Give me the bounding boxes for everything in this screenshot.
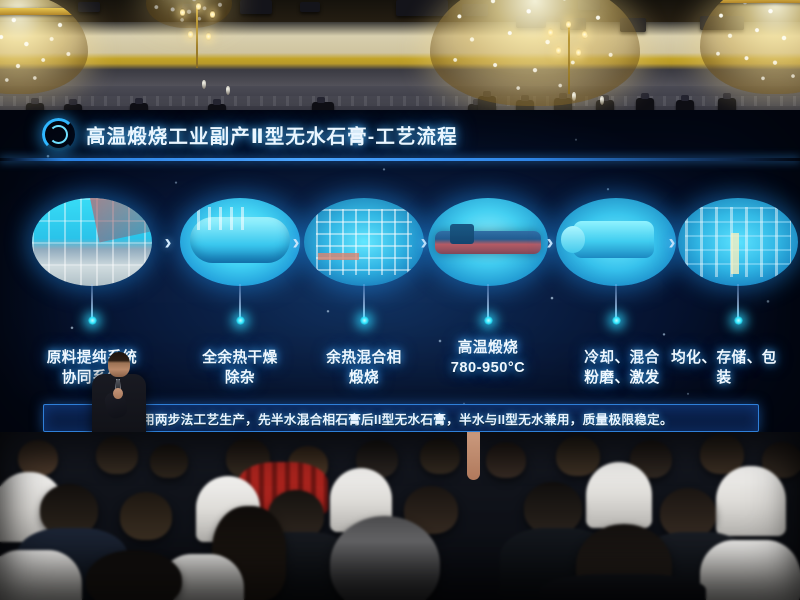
flow-stem-dot-3 <box>360 316 369 325</box>
flow-node-2 <box>180 198 300 302</box>
process-flow-row: › › › › <box>0 198 800 328</box>
title-divider <box>0 158 800 161</box>
chandelier-far-left-small <box>146 0 232 28</box>
flow-stem-dot-1 <box>88 316 97 325</box>
flow-stem-1 <box>91 284 93 318</box>
chandelier-crystal-2 <box>226 86 230 95</box>
flow-node-6 <box>678 198 798 302</box>
chandelier-main <box>430 0 640 106</box>
chandelier-right <box>700 0 800 94</box>
flow-stem-6 <box>737 284 739 318</box>
flow-arrow-2: › <box>286 232 306 254</box>
chandelier-arm-left <box>196 8 198 68</box>
step-label-6-line2: 装 <box>644 368 800 388</box>
flow-node-1 <box>32 198 152 302</box>
step-label-6-line1: 均化、存储、包 <box>644 348 800 368</box>
chandelier-candle-9 <box>556 46 561 55</box>
flow-stem-dot-5 <box>612 316 621 325</box>
chandelier-crystal-4 <box>600 96 604 105</box>
flow-image-5 <box>556 198 676 286</box>
chandelier-crystal-3 <box>572 92 576 101</box>
chandelier-arm-right <box>568 22 570 94</box>
flow-node-4 <box>428 198 548 302</box>
flow-image-6 <box>678 198 798 286</box>
chandelier-left <box>0 0 88 94</box>
step-label-6: 均化、存储、包 装 <box>644 348 800 388</box>
presenter-head <box>108 352 130 377</box>
flow-stem-3 <box>363 284 365 318</box>
flow-image-1 <box>32 198 152 286</box>
audience-area <box>0 432 800 600</box>
flow-node-3 <box>304 198 424 302</box>
chandelier-candle-1 <box>180 8 185 17</box>
chandelier-candle-4 <box>188 30 193 39</box>
raised-arm <box>467 432 480 480</box>
flow-image-2 <box>180 198 300 286</box>
page-title: 高温煅烧工业副产Ⅱ型无水石膏-工艺流程 <box>86 120 458 149</box>
chandelier-candle-10 <box>576 48 581 57</box>
chandelier-candle-8 <box>582 30 587 39</box>
flow-stem-dot-4 <box>484 316 493 325</box>
slide-caption-text: 采用两步法工艺生产，先半水混合相石膏后II型无水石膏，半水与II型无水兼用，质量… <box>129 409 673 428</box>
ceiling <box>0 0 800 120</box>
chandelier-candle-7 <box>566 20 571 29</box>
chandelier-candle-6 <box>548 28 553 37</box>
chandelier-candle-3 <box>210 10 215 19</box>
flow-stem-dot-2 <box>236 316 245 325</box>
conference-photo-scene: 高温煅烧工业副产Ⅱ型无水石膏-工艺流程 › › › <box>0 0 800 600</box>
slide-title-row: 高温煅烧工业副产Ⅱ型无水石膏-工艺流程 <box>42 118 458 151</box>
slide-caption-bar: 采用两步法工艺生产，先半水混合相石膏后II型无水石膏，半水与II型无水兼用，质量… <box>43 404 759 432</box>
flow-stem-2 <box>239 284 241 318</box>
ceiling-vent-4 <box>300 2 320 12</box>
ceiling-vent-3 <box>240 0 272 14</box>
flow-image-4 <box>428 198 548 286</box>
chandelier-candle-5 <box>206 32 211 41</box>
chandelier-crystal-1 <box>202 80 206 89</box>
chandelier-candle-2 <box>196 2 201 11</box>
flow-image-3 <box>304 198 424 286</box>
audience-vignette <box>0 432 800 600</box>
flow-arrow-1: › <box>158 232 178 254</box>
flow-node-5 <box>556 198 676 302</box>
flow-stem-5 <box>615 284 617 318</box>
circular-ring-logo-icon <box>42 118 75 151</box>
presenter-hand <box>113 388 123 399</box>
flow-stem-dot-6 <box>734 316 743 325</box>
flow-stem-4 <box>487 284 489 318</box>
